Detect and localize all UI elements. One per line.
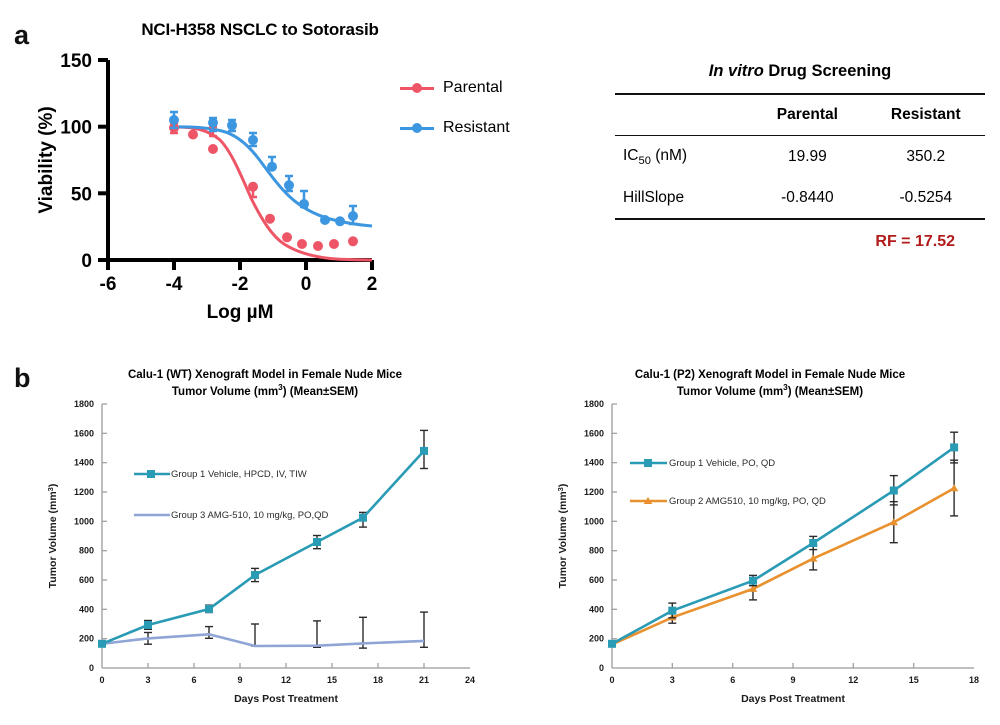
dose-ytick-0: 0	[81, 251, 92, 272]
p2-ytick-800: 800	[589, 546, 604, 556]
wt-yaxis-post: )	[47, 484, 59, 488]
calu1-p2-axes	[612, 404, 974, 668]
drug-screening-table: Parental Resistant IC50 (nM) 19.99 350.2…	[615, 93, 985, 220]
p2-ytick-1400: 1400	[584, 458, 604, 468]
wt-group1-errorbars	[144, 430, 428, 629]
ic50-label-sub: 50	[639, 155, 651, 167]
parental-marker-icon	[400, 81, 434, 95]
drug-screening-title: In vitro Drug Screening	[615, 62, 985, 81]
table-cell-ic50-parental: 19.99	[748, 136, 866, 179]
parental-data-points	[170, 123, 358, 251]
p2-xtick-18: 18	[969, 675, 979, 685]
legend-item-resistant[interactable]: Resistant	[400, 108, 550, 148]
table-rowlabel-hillslope: HillSlope	[615, 178, 748, 219]
wt-xtick-18: 18	[373, 675, 383, 685]
dose-ytick-50: 50	[71, 184, 92, 205]
p2-xtick-3: 3	[670, 675, 675, 685]
wt-ytick-1600: 1600	[74, 428, 94, 438]
p2-yaxis-post: )	[557, 484, 569, 488]
dose-ytick-100: 100	[60, 118, 92, 139]
ic50-label-main: IC	[623, 147, 639, 164]
wt-ytick-1200: 1200	[74, 487, 94, 497]
dose-xtick-neg4: -4	[166, 274, 183, 295]
dose-response-chart: NCI-H358 NSCLC to Sotorasib 150 100 50 0…	[0, 0, 560, 330]
p2-xtick-6: 6	[730, 675, 735, 685]
p2-xaxis-title: Days Post Treatment	[741, 693, 845, 705]
wt-xtick-21: 21	[419, 675, 429, 685]
calu1-p2-xenograft-chart: Calu-1 (P2) Xenograft Model in Female Nu…	[540, 362, 1000, 725]
dose-ytick-150: 150	[60, 51, 92, 72]
p2-xtick-0: 0	[609, 675, 614, 685]
table-rowlabel-ic50: IC50 (nM)	[615, 136, 748, 179]
dose-xtick-neg6: -6	[100, 274, 117, 295]
wt-yaxis-title: Tumor Volume (mm3)	[46, 484, 59, 589]
dose-yaxis-title: Viability (%)	[36, 106, 57, 213]
table-cell-ic50-resistant: 350.2	[867, 136, 985, 179]
dose-xtick-neg2: -2	[232, 274, 249, 295]
p2-ytick-1600: 1600	[584, 428, 604, 438]
wt-xtick-3: 3	[145, 675, 150, 685]
p2-legend-marker-group1	[644, 459, 652, 467]
p2-xtick-12: 12	[848, 675, 858, 685]
wt-xtick-9: 9	[237, 675, 242, 685]
p2-ytick-400: 400	[589, 604, 604, 614]
table-header-row: Parental Resistant	[615, 94, 985, 136]
p2-ytick-600: 600	[589, 575, 604, 585]
parental-fit-curve	[174, 127, 372, 260]
wt-legend-label-group1[interactable]: Group 1 Vehicle, HPCD, IV, TIW	[171, 469, 307, 480]
p2-legend: Group 1 Vehicle, PO, QD Group 2 AMG510, …	[630, 458, 826, 507]
calu1-p2-plot: 1800 1600 1400 1200 1000 800 600 400 200…	[540, 362, 1000, 725]
wt-xaxis-title: Days Post Treatment	[234, 693, 338, 705]
ic50-label-tail: (nM)	[651, 147, 687, 164]
panel-b-label: b	[14, 365, 31, 392]
p2-yaxis-pre: Tumor Volume (mm	[557, 491, 569, 588]
p2-group1-line	[612, 447, 954, 643]
table-header-parental: Parental	[748, 94, 866, 136]
drug-screening-title-italic: In vitro	[709, 62, 764, 80]
wt-legend-marker-group1	[147, 470, 155, 478]
dose-response-plot: 150 100 50 0 -6 -4 -2 0 2 Log µM Viabili…	[0, 0, 560, 330]
legend-label-parental: Parental	[443, 79, 503, 97]
wt-ytick-1000: 1000	[74, 516, 94, 526]
table-cell-hillslope-resistant: -0.5254	[867, 178, 985, 219]
wt-yaxis-pre: Tumor Volume (mm	[47, 491, 59, 588]
resistant-marker-icon	[400, 121, 434, 135]
dose-xtick-0: 0	[301, 274, 312, 295]
p2-xtick-15: 15	[909, 675, 919, 685]
resistance-factor-value: RF = 17.52	[615, 233, 985, 251]
p2-yaxis-title: Tumor Volume (mm3)	[556, 484, 569, 589]
table-row-ic50: IC50 (nM) 19.99 350.2	[615, 136, 985, 179]
legend-label-resistant: Resistant	[443, 119, 510, 137]
dose-response-legend: Parental Resistant	[400, 68, 550, 148]
p2-ytick-0: 0	[599, 663, 604, 673]
drug-screening-title-rest: Drug Screening	[764, 62, 891, 80]
wt-ytick-0: 0	[89, 663, 94, 673]
p2-group2-line	[612, 488, 954, 644]
table-header-resistant: Resistant	[867, 94, 985, 136]
wt-legend: Group 1 Vehicle, HPCD, IV, TIW Group 3 A…	[134, 469, 328, 521]
wt-ytick-800: 800	[79, 546, 94, 556]
p2-ytick-1000: 1000	[584, 516, 604, 526]
wt-ytick-1800: 1800	[74, 399, 94, 409]
wt-ytick-1400: 1400	[74, 458, 94, 468]
wt-xtick-15: 15	[327, 675, 337, 685]
wt-legend-label-group3[interactable]: Group 3 AMG-510, 10 mg/kg, PO,QD	[171, 510, 328, 521]
resistant-fit-curve	[174, 127, 372, 226]
p2-ytick-1800: 1800	[584, 399, 604, 409]
wt-xtick-6: 6	[191, 675, 196, 685]
drug-screening-table-container: In vitro Drug Screening Parental Resista…	[615, 62, 985, 251]
wt-ytick-200: 200	[79, 634, 94, 644]
calu1-wt-xenograft-chart: Calu-1 (WT) Xenograft Model in Female Nu…	[30, 362, 500, 725]
wt-xtick-12: 12	[281, 675, 291, 685]
wt-xtick-24: 24	[465, 675, 475, 685]
legend-item-parental[interactable]: Parental	[400, 68, 550, 108]
p2-legend-label-group2[interactable]: Group 2 AMG510, 10 mg/kg, PO, QD	[669, 496, 826, 507]
calu1-wt-axes	[102, 404, 470, 668]
table-row-hillslope: HillSlope -0.8440 -0.5254	[615, 178, 985, 219]
p2-ytick-1200: 1200	[584, 487, 604, 497]
table-cell-hillslope-parental: -0.8440	[748, 178, 866, 219]
table-header-blank	[615, 94, 748, 136]
p2-xtick-9: 9	[790, 675, 795, 685]
wt-ytick-600: 600	[79, 575, 94, 585]
p2-legend-label-group1[interactable]: Group 1 Vehicle, PO, QD	[669, 458, 775, 469]
calu1-wt-plot: 1800 1600 1400 1200 1000 800 600 400 200…	[30, 362, 500, 725]
wt-ytick-400: 400	[79, 604, 94, 614]
wt-xtick-0: 0	[99, 675, 104, 685]
p2-ytick-200: 200	[589, 634, 604, 644]
dose-xaxis-title: Log µM	[207, 302, 274, 323]
dose-xtick-2: 2	[367, 274, 378, 295]
